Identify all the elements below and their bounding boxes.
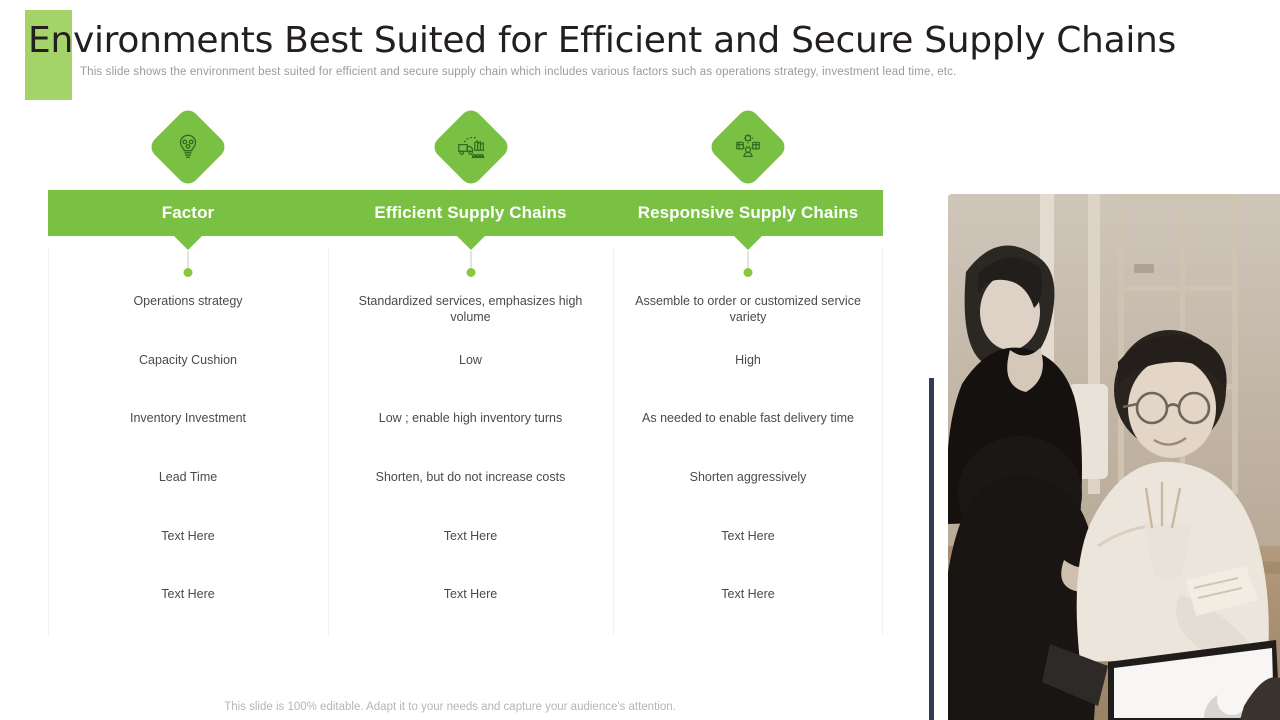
column-icon-badge-responsive <box>707 106 789 188</box>
cell-text: Capacity Cushion <box>139 342 237 368</box>
header-connector-dot-efficient <box>466 268 475 277</box>
table-cell: Text Here <box>328 576 613 635</box>
supply-chain-truck-factory-icon <box>455 131 487 163</box>
table-column-efficient-supply-chains: Efficient Supply Chains Standardized ser… <box>328 190 613 635</box>
cell-text: Text Here <box>161 576 215 602</box>
cell-text: Low ; enable high inventory turns <box>379 400 562 426</box>
table-cell: Lead Time <box>48 459 328 518</box>
table-cell: Text Here <box>613 576 883 635</box>
table-cell: As needed to enable fast delivery time <box>613 400 883 459</box>
column-icon-badge-efficient <box>429 106 511 188</box>
comparison-table: Factor Operations strategy Capacity Cush… <box>48 190 883 635</box>
cell-text: Low <box>459 342 482 368</box>
column-cells-factor: Operations strategy Capacity Cushion Inv… <box>48 283 328 635</box>
table-cell: Shorten, but do not increase costs <box>328 459 613 518</box>
table-cell: Capacity Cushion <box>48 342 328 401</box>
column-icon-badge-factor <box>147 106 229 188</box>
cell-text: Shorten, but do not increase costs <box>376 459 566 485</box>
column-cells-responsive: Assemble to order or customized service … <box>613 283 883 635</box>
page-subtitle: This slide shows the environment best su… <box>80 66 1210 78</box>
cell-text: Text Here <box>444 518 498 544</box>
lightbulb-idea-icon <box>173 132 203 162</box>
table-cell: Low ; enable high inventory turns <box>328 400 613 459</box>
table-cell: Text Here <box>48 518 328 577</box>
header-connector-dot-responsive <box>744 268 753 277</box>
footer-note: This slide is 100% editable. Adapt it to… <box>0 701 900 713</box>
cell-text: Shorten aggressively <box>690 459 807 485</box>
cell-text: Lead Time <box>159 459 217 485</box>
column-cells-efficient: Standardized services, emphasizes high v… <box>328 283 613 635</box>
team-gear-management-icon <box>733 132 763 162</box>
cell-text: Standardized services, emphasizes high v… <box>346 283 595 326</box>
page-title: Environments Best Suited for Efficient a… <box>28 20 1258 61</box>
table-cell: Low <box>328 342 613 401</box>
cell-text: High <box>735 342 761 368</box>
table-cell: Text Here <box>48 576 328 635</box>
table-cell: Text Here <box>613 518 883 577</box>
column-header-efficient: Efficient Supply Chains <box>328 190 613 236</box>
cell-text: Operations strategy <box>133 283 242 309</box>
table-cell: Operations strategy <box>48 283 328 342</box>
table-cell: Standardized services, emphasizes high v… <box>328 283 613 342</box>
photo-illustration <box>948 194 1280 720</box>
cell-text: Text Here <box>444 576 498 602</box>
cell-text: Inventory Investment <box>130 400 246 426</box>
cell-text: Text Here <box>161 518 215 544</box>
business-team-meeting-photo <box>948 194 1280 720</box>
table-cell: Text Here <box>328 518 613 577</box>
table-column-factor: Factor Operations strategy Capacity Cush… <box>48 190 328 635</box>
cell-text: Text Here <box>721 518 775 544</box>
header-connector-dot-factor <box>184 268 193 277</box>
column-header-factor: Factor <box>48 190 328 236</box>
navy-accent-bar <box>929 378 934 720</box>
cell-text: Text Here <box>721 576 775 602</box>
table-cell: Assemble to order or customized service … <box>613 283 883 342</box>
table-cell: Shorten aggressively <box>613 459 883 518</box>
table-cell: Inventory Investment <box>48 400 328 459</box>
slide: Environments Best Suited for Efficient a… <box>0 0 1280 720</box>
table-column-responsive-supply-chains: Responsive Supply Chains Assemble to ord… <box>613 190 883 635</box>
cell-text: As needed to enable fast delivery time <box>642 400 854 426</box>
cell-text: Assemble to order or customized service … <box>631 283 865 326</box>
table-cell: High <box>613 342 883 401</box>
column-header-responsive: Responsive Supply Chains <box>613 190 883 236</box>
